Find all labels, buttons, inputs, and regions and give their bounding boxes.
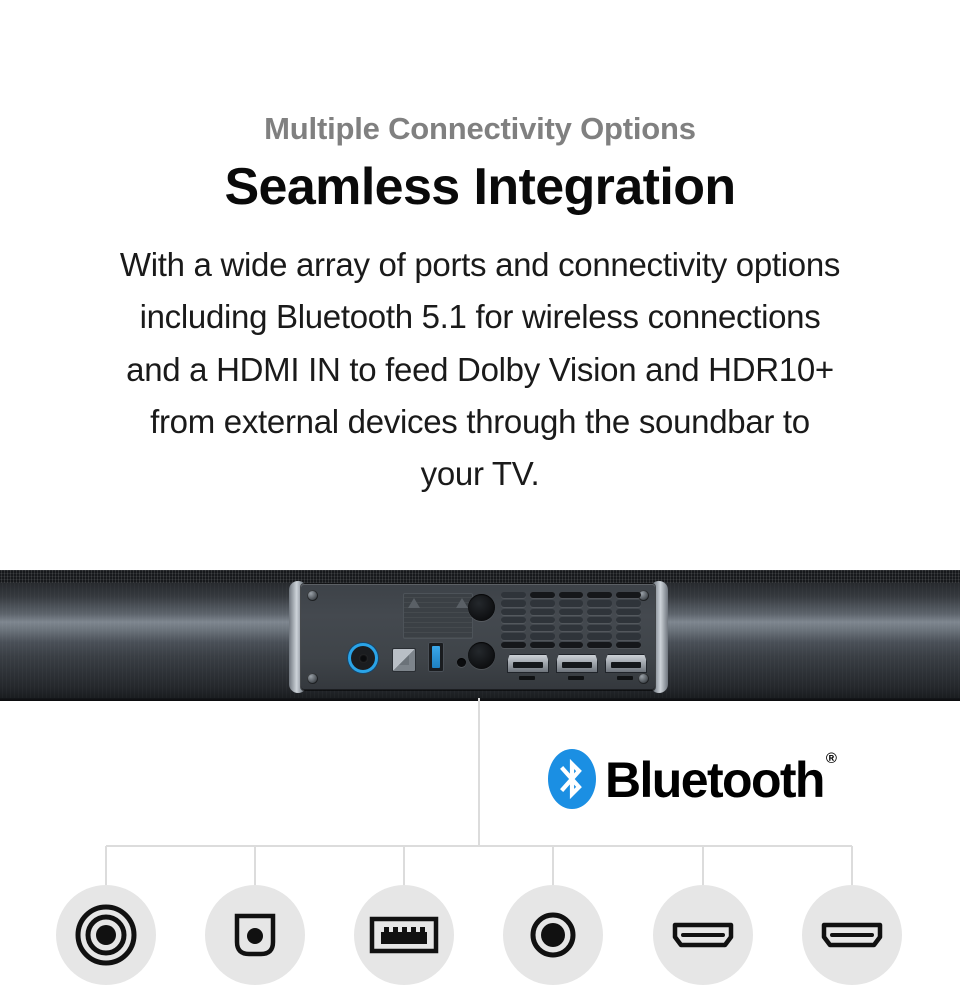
- usb-port-icon[interactable]: [354, 885, 454, 985]
- connector-drop-lines: [106, 846, 852, 888]
- mounting-hole-lower: [468, 642, 495, 669]
- hdmi-tab-2: [568, 676, 584, 680]
- hdmi-port-icon-2[interactable]: [802, 885, 902, 985]
- rear-port-panel: [301, 584, 655, 690]
- panel-screw-bottom-left: [307, 673, 318, 684]
- panel-screw-top-left: [307, 590, 318, 601]
- usb-port: [428, 642, 444, 672]
- soundbar-bottom-edge: [0, 698, 960, 701]
- intro-text-block: Multiple Connectivity Options Seamless I…: [0, 0, 960, 500]
- connectivity-icon-row: [0, 885, 960, 987]
- hdmi-port-2: [556, 654, 598, 673]
- optical-jack-port: [351, 646, 375, 670]
- eyebrow-heading: Multiple Connectivity Options: [0, 0, 960, 146]
- soundbar-grille: [0, 570, 960, 583]
- reset-pinhole: [457, 658, 466, 667]
- hdmi-tab-3: [617, 676, 633, 680]
- body-paragraph: With a wide array of ports and connectiv…: [115, 216, 845, 500]
- page-title: Seamless Integration: [0, 146, 960, 216]
- warning-triangle-icon-left: [408, 598, 420, 608]
- registered-trademark-symbol: ®: [826, 750, 837, 767]
- optical-port-icon[interactable]: [205, 885, 305, 985]
- warning-rating-label: [403, 593, 473, 639]
- bluetooth-wordmark: Bluetooth: [605, 755, 824, 805]
- hdmi-port-3: [605, 654, 647, 673]
- hdmi-port-icon-1[interactable]: [653, 885, 753, 985]
- hdmi-port-1: [507, 654, 549, 673]
- coaxial-port-icon[interactable]: [56, 885, 156, 985]
- warning-triangle-icon-right: [456, 598, 468, 608]
- bluetooth-logo: Bluetooth ®: [548, 748, 837, 810]
- panel-screw-bottom-right: [638, 673, 649, 684]
- mounting-hole-upper: [468, 594, 495, 621]
- hdmi-tab-1: [519, 676, 535, 680]
- ventilation-grid: [501, 592, 641, 648]
- bluetooth-icon: [548, 749, 596, 809]
- aux-jack-icon[interactable]: [503, 885, 603, 985]
- soundbar-product-image: [0, 570, 960, 701]
- optical-square-port: [392, 648, 416, 672]
